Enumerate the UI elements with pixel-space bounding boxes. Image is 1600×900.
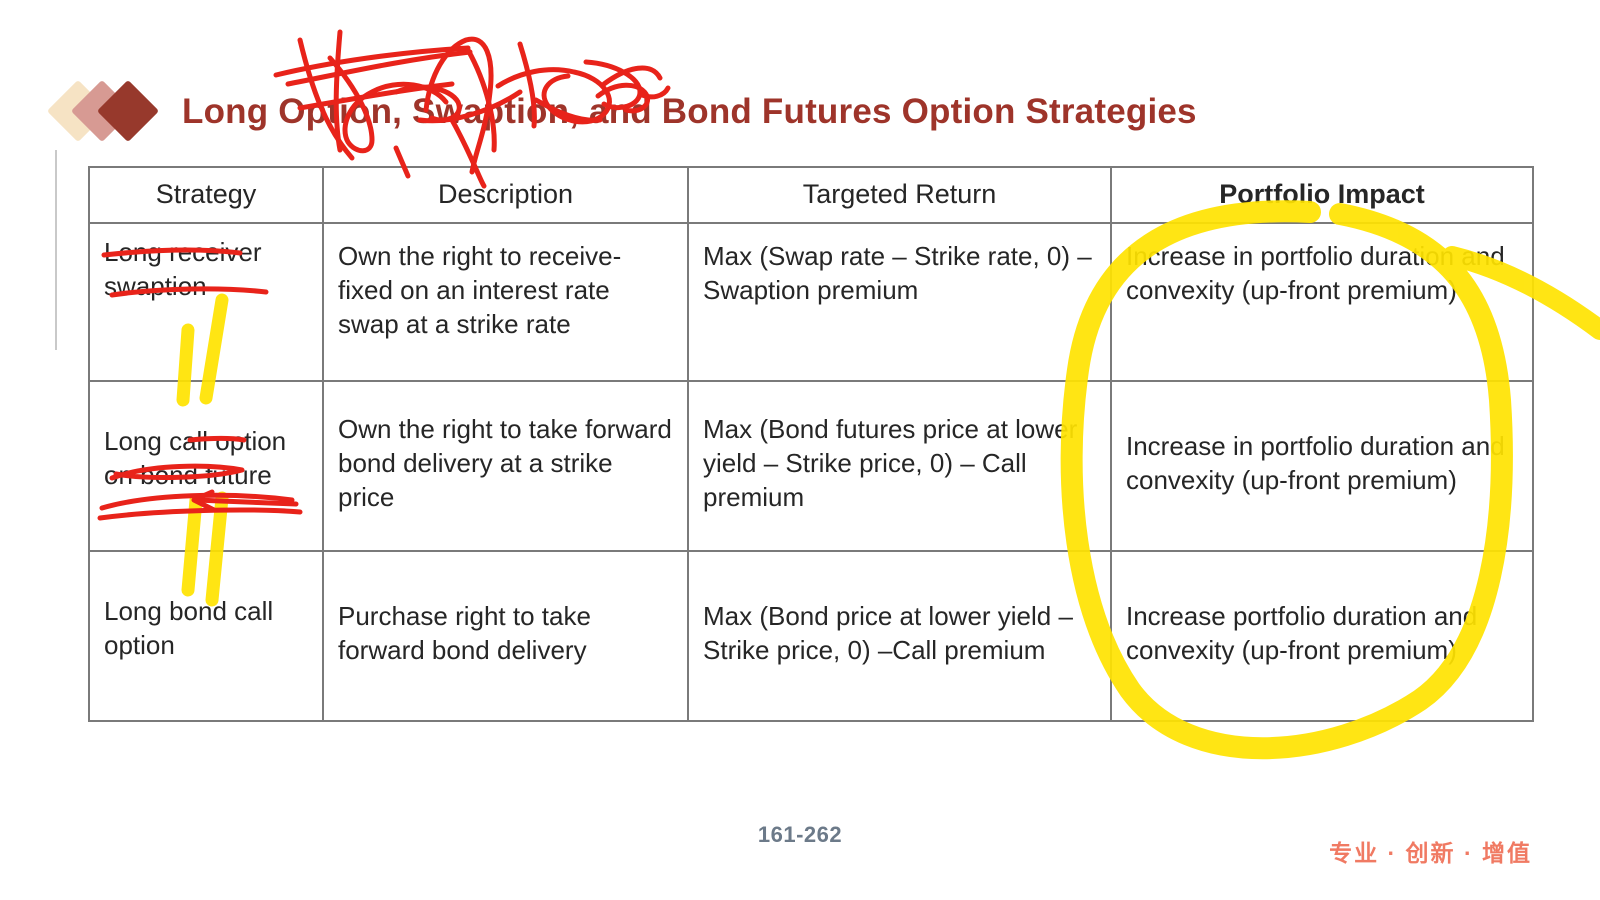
table-row: Long bond call option Purchase right to … <box>89 551 1533 721</box>
table-row: Long call option on bond future Own the … <box>89 381 1533 551</box>
cell-description-row2: Own the right to take forward bond deliv… <box>323 381 688 551</box>
brand-slogan: 专业 · 创新 · 增值 <box>1329 834 1532 868</box>
column-header-description: Description <box>323 167 688 223</box>
cell-targeted-return-row1: Max (Swap rate – Strike rate, 0) – Swapt… <box>688 223 1111 381</box>
cell-targeted-return-row3: Max (Bond price at lower yield – Strike … <box>688 551 1111 721</box>
table-row: Long receiver swaption Own the right to … <box>89 223 1533 381</box>
three-diamond-logo-icon <box>54 79 172 143</box>
table-header-row: Strategy Description Targeted Return Por… <box>89 167 1533 223</box>
column-header-targeted-return: Targeted Return <box>688 167 1111 223</box>
cell-description-row3: Purchase right to take forward bond deli… <box>323 551 688 721</box>
cell-portfolio-impact-row1: Increase in portfolio duration and conve… <box>1111 223 1533 381</box>
cell-targeted-return-row2: Max (Bond futures price at lower yield –… <box>688 381 1111 551</box>
cell-strategy-row2: Long call option on bond future <box>89 381 323 551</box>
cell-strategy-row3: Long bond call option <box>89 551 323 721</box>
strategy-table: Strategy Description Targeted Return Por… <box>88 166 1534 722</box>
cell-portfolio-impact-row3: Increase portfolio duration and convexit… <box>1111 551 1533 721</box>
column-header-strategy: Strategy <box>89 167 323 223</box>
slide-title-row: Long Option, Swaption, and Bond Futures … <box>54 76 1197 146</box>
slide-canvas: Long Option, Swaption, and Bond Futures … <box>0 0 1600 900</box>
column-header-portfolio-impact: Portfolio Impact <box>1111 167 1533 223</box>
page-title: Long Option, Swaption, and Bond Futures … <box>182 94 1197 129</box>
cell-strategy-row1: Long receiver swaption <box>89 223 323 381</box>
cell-description-row1: Own the right to receive-fixed on an int… <box>323 223 688 381</box>
cell-portfolio-impact-row2: Increase in portfolio duration and conve… <box>1111 381 1533 551</box>
page-edge-rule <box>55 150 57 350</box>
